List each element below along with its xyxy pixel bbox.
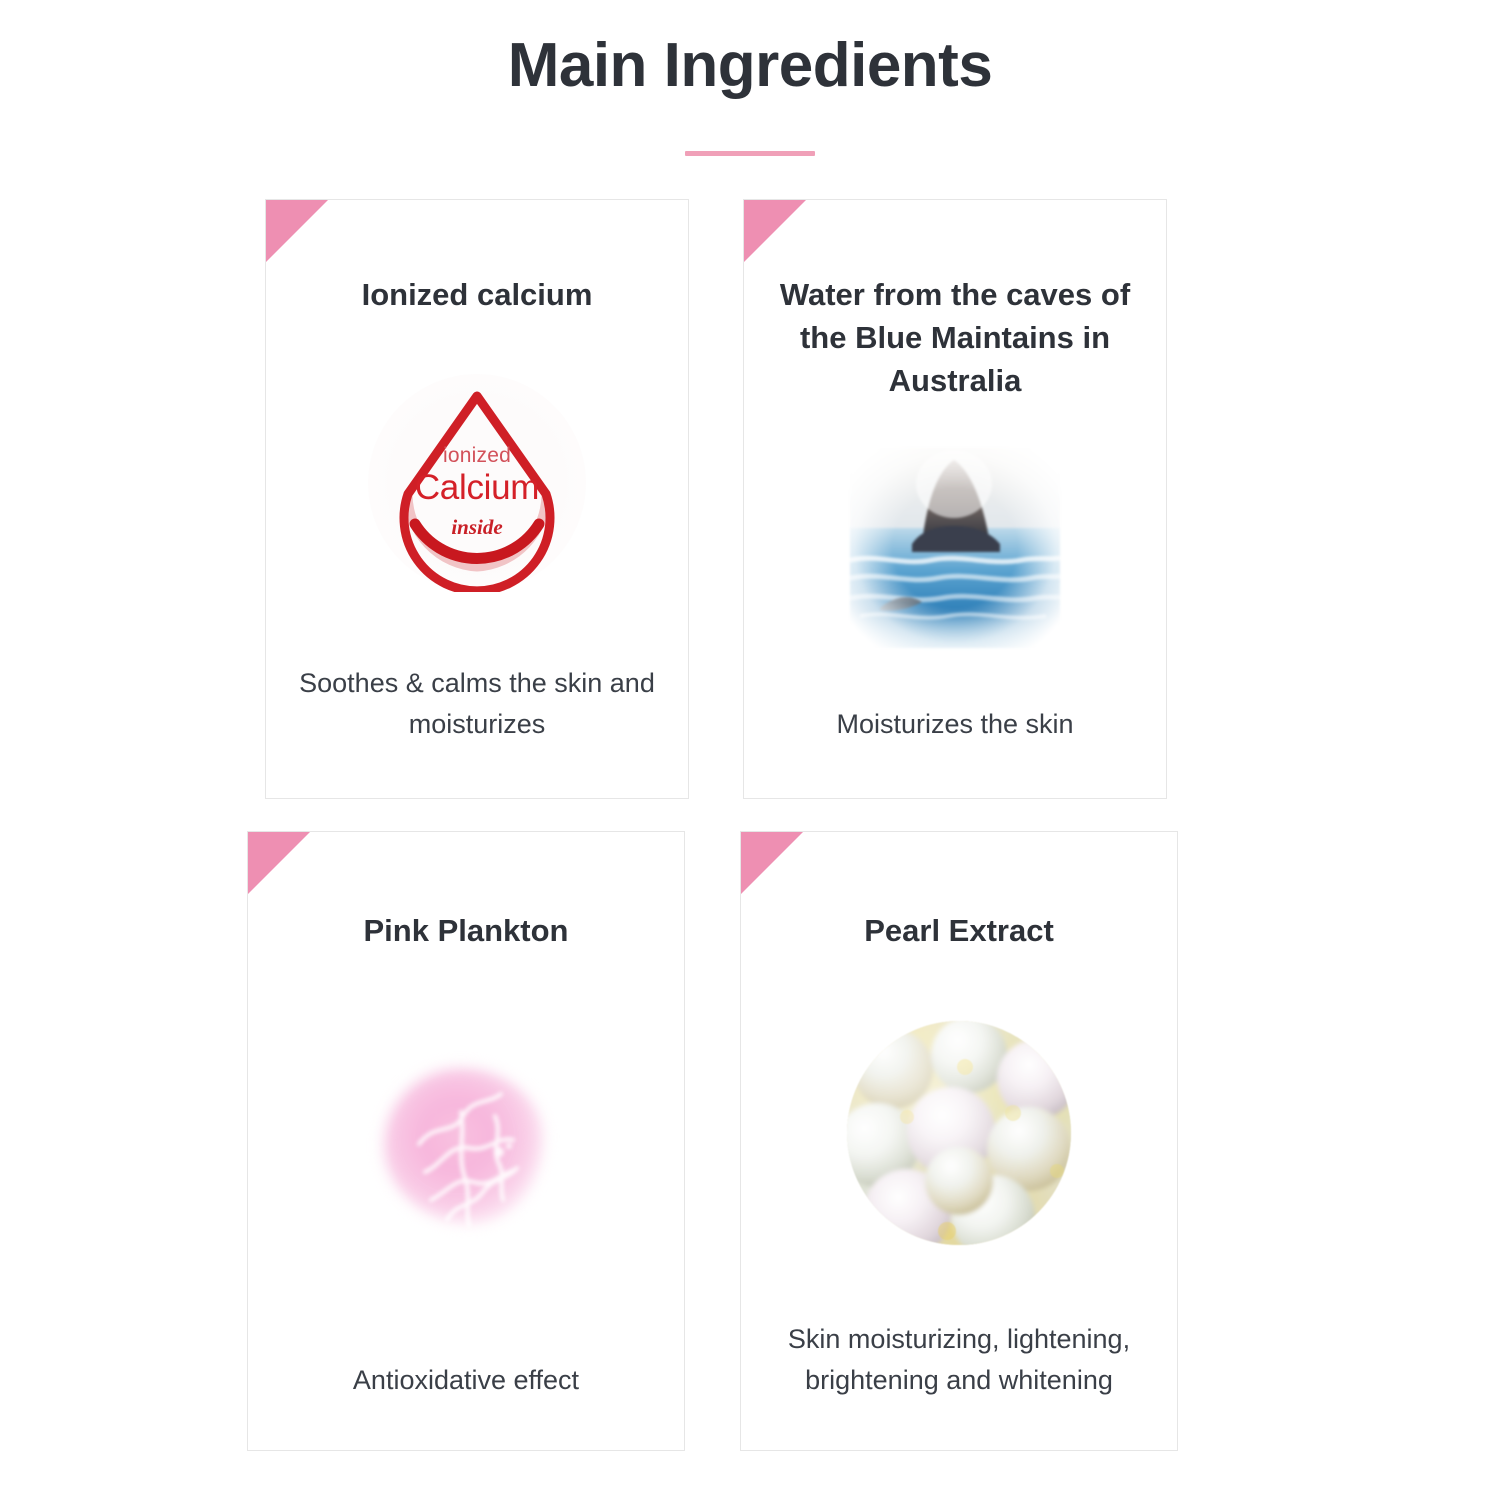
- section-header: Main Ingredients: [0, 30, 1500, 156]
- ingredient-card-pearl-extract[interactable]: Pearl Extract: [740, 831, 1178, 1451]
- ingredient-card-ionized-calcium[interactable]: Ionized calcium ionized Calcium inside: [265, 199, 689, 799]
- main-ingredients-page: Main Ingredients Ionized calcium: [0, 0, 1500, 1500]
- logo-line-inside: inside: [415, 517, 539, 538]
- image-vignette: [351, 1042, 581, 1262]
- card-media: ionized Calcium inside: [266, 317, 688, 663]
- card-description: Moisturizes the skin: [810, 704, 1099, 745]
- ingredient-cards-grid: Ionized calcium ionized Calcium inside: [247, 199, 1178, 1451]
- pearl-extract-photo: [847, 1021, 1071, 1245]
- card-description: Skin moisturizing, lightening, brighteni…: [741, 1319, 1177, 1400]
- pink-plankton-photo: [361, 1052, 571, 1252]
- card-row-bottom: Pink Plankton: [247, 831, 1178, 1451]
- card-media: [248, 953, 684, 1360]
- card-media: [741, 953, 1177, 1319]
- logo-line-calcium: Calcium: [415, 470, 539, 505]
- ionized-calcium-logo-icon: ionized Calcium inside: [368, 374, 586, 592]
- corner-flag-icon: [744, 200, 806, 262]
- card-description: Antioxidative effect: [327, 1360, 605, 1401]
- calcium-logo-text: ionized Calcium inside: [415, 445, 539, 538]
- corner-flag-icon: [741, 832, 803, 894]
- card-title: Pearl Extract: [846, 910, 1072, 953]
- card-title: Pink Plankton: [346, 910, 587, 953]
- title-divider: [685, 151, 815, 156]
- ingredient-card-cave-water[interactable]: Water from the caves of the Blue Maintai…: [743, 199, 1167, 799]
- image-vignette: [850, 448, 1060, 648]
- cave-water-photo: [850, 448, 1060, 648]
- corner-flag-icon: [248, 832, 310, 894]
- logo-line-ionized: ionized: [415, 445, 539, 466]
- card-description: Soothes & calms the skin and moisturizes: [266, 663, 688, 744]
- card-media: [744, 402, 1166, 703]
- card-title: Ionized calcium: [344, 274, 611, 317]
- card-row-top: Ionized calcium ionized Calcium inside: [265, 199, 1178, 799]
- card-title: Water from the caves of the Blue Maintai…: [744, 274, 1166, 402]
- page-title: Main Ingredients: [0, 30, 1500, 101]
- ingredient-card-pink-plankton[interactable]: Pink Plankton: [247, 831, 685, 1451]
- pearl-sheen-layer: [847, 1021, 1071, 1245]
- corner-flag-icon: [266, 200, 328, 262]
